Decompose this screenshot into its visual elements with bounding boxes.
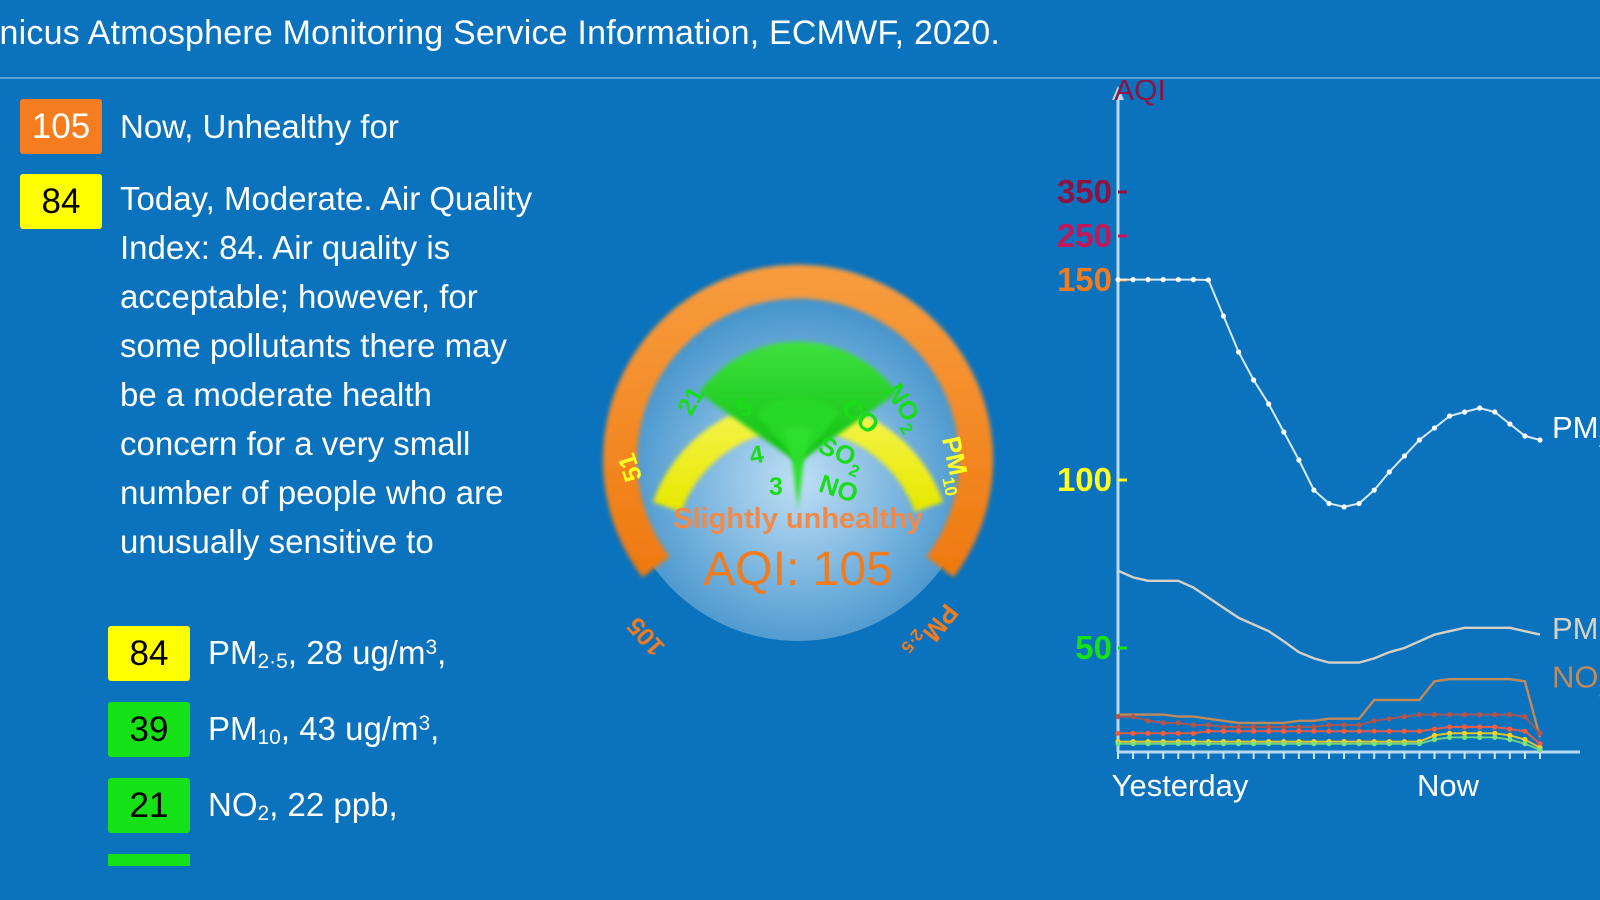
series-point: [1281, 429, 1286, 434]
pollutant-value: 28: [306, 634, 343, 671]
pollutant-trailing: ,: [388, 786, 397, 823]
pollutant-badge: [108, 854, 190, 866]
series-point: [1146, 718, 1151, 723]
pollutant-unit-exponent: 3: [425, 636, 437, 659]
pollutant-unit: ug/m: [352, 634, 425, 671]
pollutant-trailing: ,: [430, 710, 439, 747]
series-point: [1115, 741, 1120, 746]
y-tick-label: 250: [1057, 217, 1112, 254]
pollutant-subscript: 2·5: [258, 650, 288, 673]
series-point: [1206, 722, 1211, 727]
series-point: [1372, 718, 1377, 723]
summary-text-now: Now, Unhealthy for: [120, 99, 399, 154]
series-point: [1266, 729, 1271, 734]
series-point: [1326, 501, 1331, 506]
gauge-arc-label-3: 3: [769, 473, 783, 501]
pollutant-name: PM: [208, 634, 258, 671]
series-point: [1357, 501, 1362, 506]
series-point: [1342, 729, 1347, 734]
pollutant-unit-exponent: 3: [418, 712, 430, 735]
series-point: [1191, 722, 1196, 727]
y-axis-title: AQI: [1114, 80, 1166, 107]
series-point: [1432, 727, 1437, 732]
pollutant-value: 43: [299, 710, 336, 747]
series-point: [1477, 735, 1482, 740]
series-point: [1357, 722, 1362, 727]
series-line-PM2.5: [1118, 280, 1540, 507]
series-point: [1522, 433, 1527, 438]
series-point: [1161, 277, 1166, 282]
series-point: [1176, 720, 1181, 725]
pollutant-separator: ,: [288, 634, 306, 671]
series-point: [1492, 735, 1497, 740]
pollutant-subscript: 10: [258, 726, 281, 749]
list-item[interactable]: 84 PM2·5, 28 ug/m3,: [108, 626, 558, 681]
series-point: [1447, 724, 1452, 729]
aqi-timeseries-chart[interactable]: AQI35025015010050YesterdayNowPM2·5PM10NO…: [1040, 80, 1600, 900]
pollutant-badge: 84: [108, 626, 190, 681]
series-point: [1221, 741, 1226, 746]
summary-row-now[interactable]: 105 Now, Unhealthy for: [20, 99, 399, 154]
series-point: [1236, 349, 1241, 354]
series-point: [1402, 729, 1407, 734]
gauge-arc-label-105: 105: [622, 611, 671, 661]
series-point: [1522, 741, 1527, 746]
series-point: [1251, 377, 1256, 382]
y-tick-label: 100: [1057, 461, 1112, 498]
series-point: [1522, 729, 1527, 734]
series-point: [1417, 741, 1422, 746]
pollutant-badge: 39: [108, 702, 190, 757]
header-bar: rnicus Atmosphere Monitoring Service Inf…: [0, 0, 1600, 78]
series-point: [1296, 457, 1301, 462]
series-point: [1402, 741, 1407, 746]
series-point: [1326, 741, 1331, 746]
gauge-status-text: Slightly unhealthy: [673, 503, 923, 535]
header-divider: [0, 77, 1600, 79]
series-point: [1432, 425, 1437, 430]
series-point: [1236, 729, 1241, 734]
y-tick-label: 350: [1057, 173, 1112, 210]
series-point: [1447, 413, 1452, 418]
series-point: [1507, 727, 1512, 732]
pollutant-name: PM: [208, 710, 258, 747]
pollutant-label: PM10, 43 ug/m3,: [208, 710, 439, 750]
series-point: [1206, 741, 1211, 746]
series-point: [1507, 737, 1512, 742]
series-point: [1146, 741, 1151, 746]
series-point: [1357, 729, 1362, 734]
series-point: [1342, 504, 1347, 509]
series-point: [1206, 729, 1211, 734]
series-point: [1387, 741, 1392, 746]
gauge-label-pm25: PM2·5: [897, 595, 965, 667]
pollutant-value: 22: [288, 786, 325, 823]
series-point: [1236, 741, 1241, 746]
series-label-PM2.5: PM2·5: [1552, 410, 1600, 452]
series-point: [1115, 277, 1120, 282]
series-point: [1537, 731, 1542, 736]
series-point: [1387, 469, 1392, 474]
series-label-NO2: NO2: [1552, 659, 1600, 701]
pollutant-separator: ,: [269, 786, 287, 823]
series-point: [1342, 722, 1347, 727]
series-point: [1146, 277, 1151, 282]
series-point: [1462, 724, 1467, 729]
pollutant-space: [336, 710, 345, 747]
aqi-gauge[interactable]: 105 51 21 5 4 3 NO SO2 CO NO2 PM10 PM2·5…: [558, 215, 1038, 695]
series-point: [1206, 277, 1211, 282]
series-point: [1537, 747, 1542, 752]
series-point: [1266, 741, 1271, 746]
series-point: [1176, 277, 1181, 282]
series-point: [1311, 729, 1316, 734]
series-point: [1447, 735, 1452, 740]
series-point: [1417, 729, 1422, 734]
series-point: [1492, 724, 1497, 729]
pollutant-space: [343, 634, 352, 671]
list-item[interactable]: 39 PM10, 43 ug/m3,: [108, 702, 558, 757]
series-point: [1221, 313, 1226, 318]
series-point: [1417, 712, 1422, 717]
series-point: [1296, 729, 1301, 734]
series-point: [1492, 712, 1497, 717]
series-point: [1432, 712, 1437, 717]
pollutant-subscript: 2: [258, 802, 270, 825]
series-point: [1311, 741, 1316, 746]
series-label-PM10: PM10: [1552, 611, 1600, 653]
air-quality-summary-panel: 105 Now, Unhealthy for 84 Today, Moderat…: [0, 86, 560, 900]
series-point: [1251, 729, 1256, 734]
series-point: [1477, 712, 1482, 717]
pollutant-unit: ug/m: [345, 710, 418, 747]
series-point: [1191, 731, 1196, 736]
series-point: [1115, 714, 1120, 719]
series-point: [1372, 488, 1377, 493]
series-point: [1342, 741, 1347, 746]
aqi-badge-today: 84: [20, 174, 102, 229]
pollutant-label: PM2·5, 28 ug/m3,: [208, 634, 446, 674]
series-point: [1477, 405, 1482, 410]
series-point: [1462, 735, 1467, 740]
pollutant-unit: ppb: [333, 786, 388, 823]
series-point: [1115, 731, 1120, 736]
series-point: [1522, 714, 1527, 719]
series-point: [1251, 741, 1256, 746]
series-point: [1372, 741, 1377, 746]
y-tick-label: 50: [1075, 629, 1112, 666]
pollutant-list: 84 PM2·5, 28 ug/m3, 39 PM10, 43 ug/m3, 2…: [108, 626, 558, 866]
series-point: [1326, 722, 1331, 727]
x-tick-label: Now: [1417, 768, 1480, 803]
series-point: [1447, 712, 1452, 717]
series-point: [1161, 720, 1166, 725]
series-point: [1176, 741, 1181, 746]
series-point: [1281, 729, 1286, 734]
series-point: [1492, 409, 1497, 414]
series-point: [1387, 716, 1392, 721]
series-point: [1191, 277, 1196, 282]
series-point: [1417, 437, 1422, 442]
series-point: [1131, 277, 1136, 282]
gauge-aqi-value: AQI: 105: [703, 543, 892, 596]
chart-axes: [1112, 86, 1580, 752]
series-point: [1131, 714, 1136, 719]
series-point: [1146, 731, 1151, 736]
y-tick-label: 150: [1057, 261, 1112, 298]
series-point: [1537, 437, 1542, 442]
series-point: [1131, 741, 1136, 746]
series-point: [1191, 741, 1196, 746]
series-point: [1462, 409, 1467, 414]
series-point: [1402, 714, 1407, 719]
series-point: [1432, 737, 1437, 742]
series-point: [1266, 401, 1271, 406]
series-point: [1477, 724, 1482, 729]
list-item[interactable]: 21 NO2, 22 ppb,: [108, 778, 558, 833]
aqi-badge-now: 105: [20, 99, 102, 154]
series-point: [1131, 731, 1136, 736]
pollutant-badge: 21: [108, 778, 190, 833]
series-point: [1176, 731, 1181, 736]
list-item-partial[interactable]: [108, 854, 558, 866]
pollutant-separator: ,: [281, 710, 299, 747]
series-point: [1221, 729, 1226, 734]
series-point: [1507, 712, 1512, 717]
pollutant-label: NO2, 22 ppb,: [208, 786, 398, 826]
pollutant-name: NO: [208, 786, 258, 823]
summary-row-today[interactable]: 84 Today, Moderate. Air Quality Index: 8…: [20, 174, 540, 566]
summary-text-today: Today, Moderate. Air Quality Index: 84. …: [120, 174, 540, 566]
series-point: [1507, 421, 1512, 426]
series-point: [1462, 712, 1467, 717]
series-point: [1402, 453, 1407, 458]
series-point: [1387, 729, 1392, 734]
series-point: [1311, 488, 1316, 493]
pollutant-trailing: ,: [437, 634, 446, 671]
series-point: [1281, 741, 1286, 746]
series-point: [1161, 731, 1166, 736]
header-attribution-text: rnicus Atmosphere Monitoring Service Inf…: [0, 14, 1000, 53]
series-point: [1357, 741, 1362, 746]
series-point: [1161, 741, 1166, 746]
x-tick-label: Yesterday: [1112, 768, 1249, 803]
series-line-PM10: [1118, 571, 1540, 663]
series-point: [1296, 741, 1301, 746]
series-point: [1326, 729, 1331, 734]
series-point: [1372, 729, 1377, 734]
